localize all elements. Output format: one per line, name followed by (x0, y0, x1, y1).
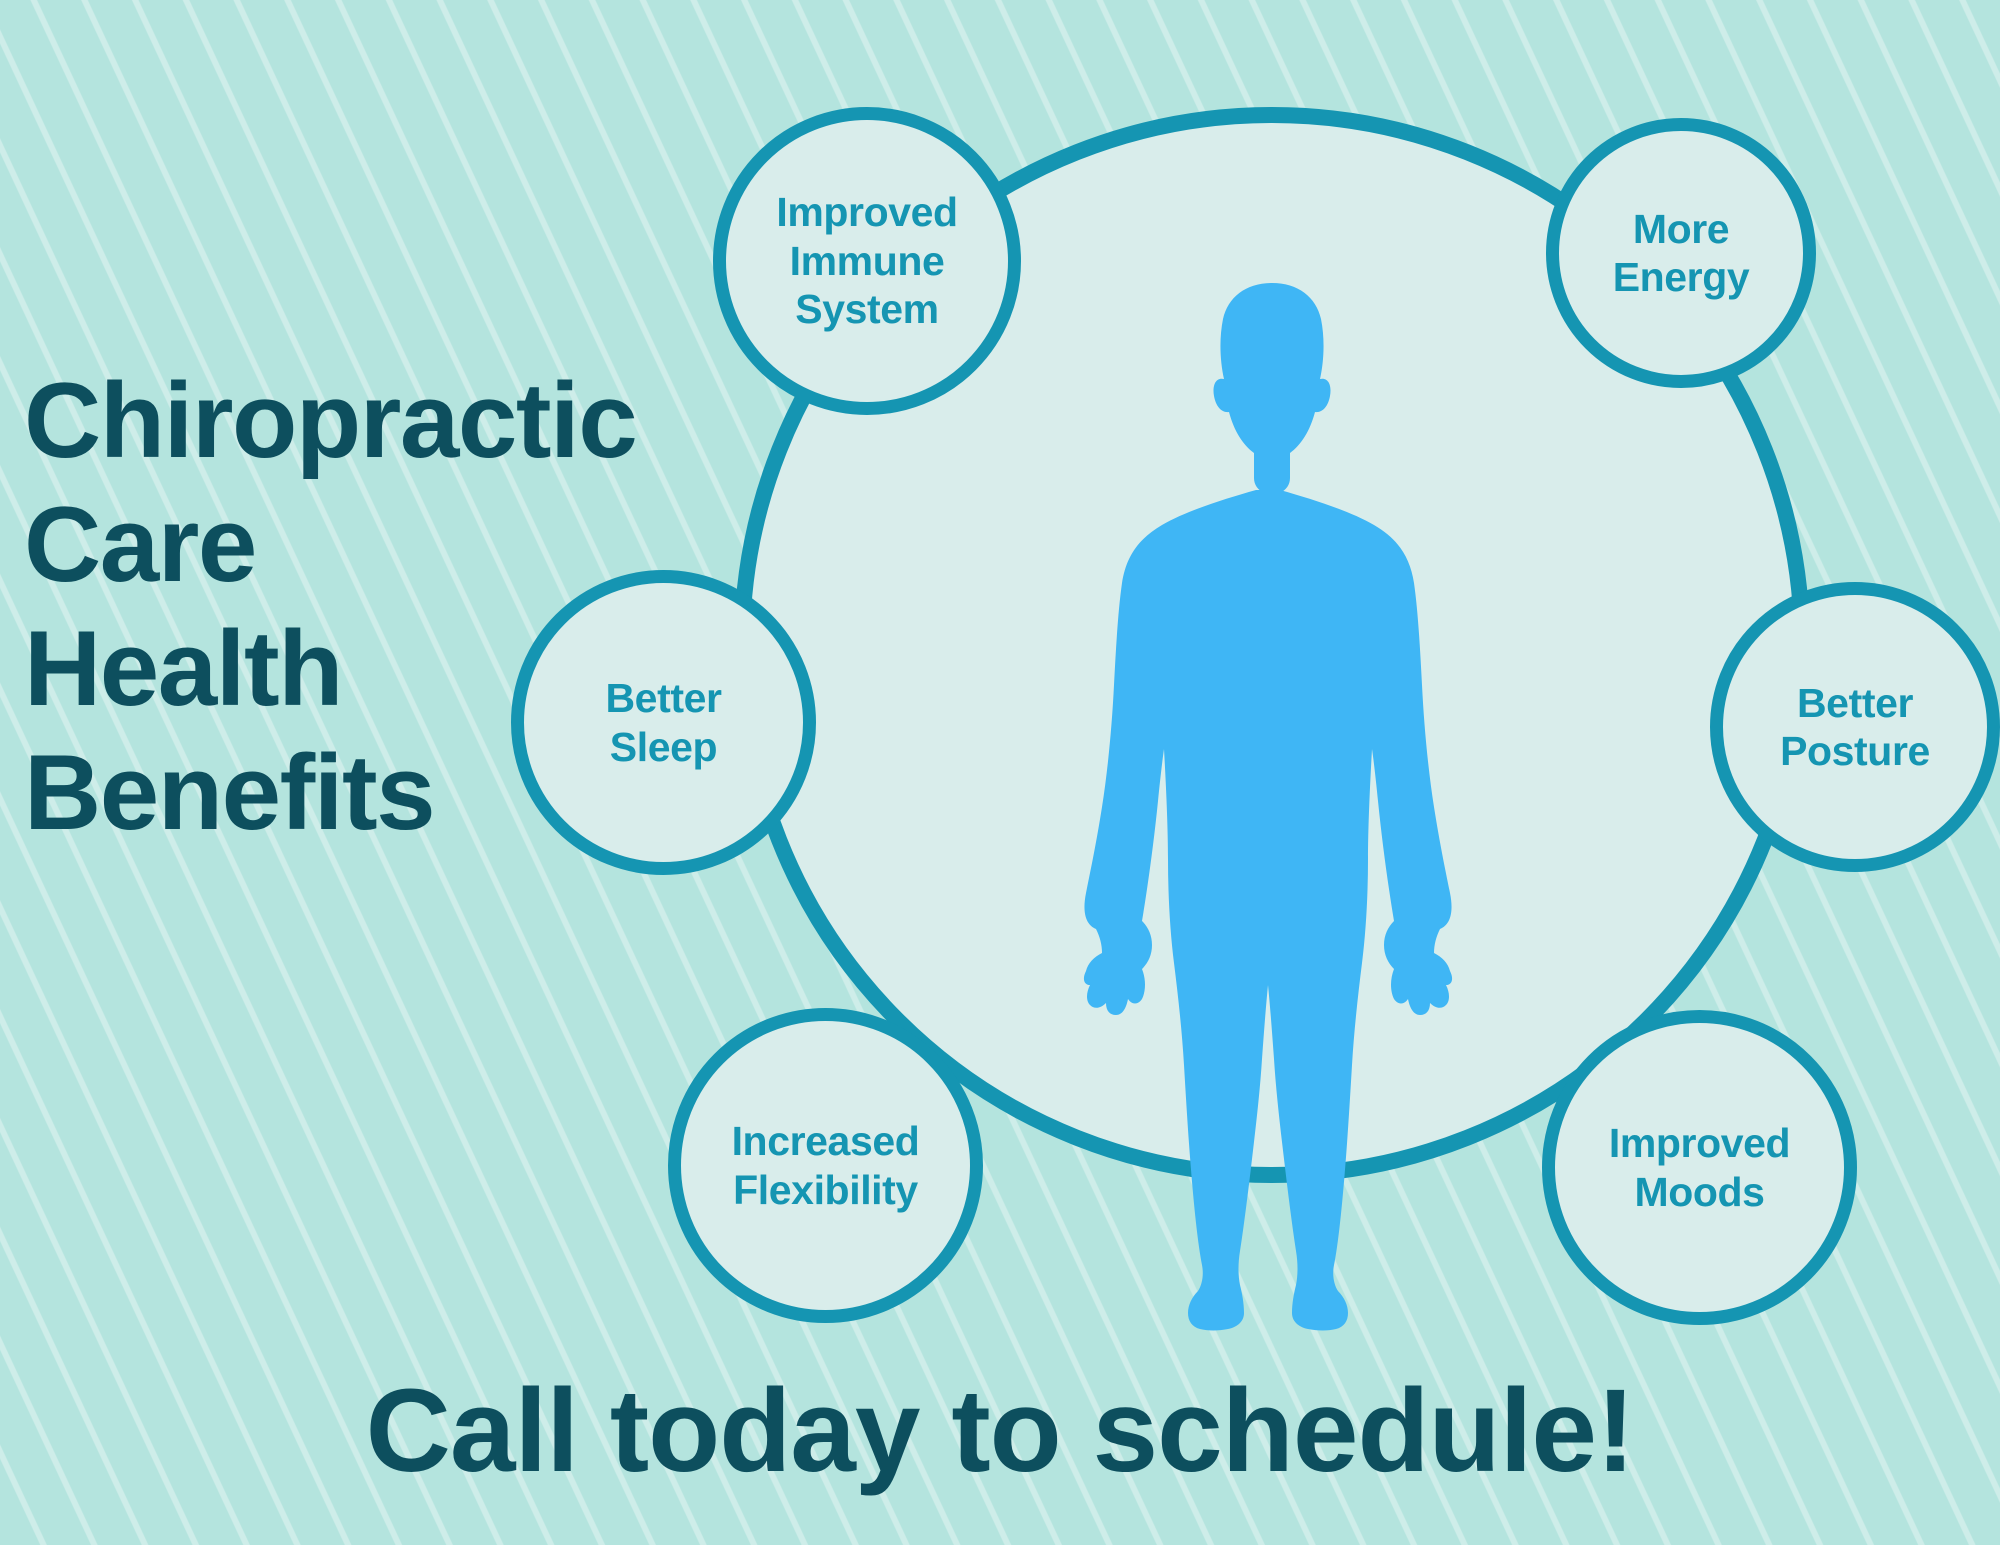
benefit-line-2: Moods (1634, 1169, 1764, 1215)
benefit-line-1: Improved (1609, 1120, 1790, 1166)
benefit-line-2: Energy (1613, 254, 1750, 300)
benefit-line-2: Flexibility (733, 1167, 918, 1213)
headline-line-1: Chiropractic (24, 358, 724, 482)
benefit-line-1: More (1633, 206, 1729, 252)
call-to-action-text: Call today to schedule! (0, 1372, 2000, 1490)
benefit-bubble-improved-immune-system[interactable]: Improved Immune System (713, 107, 1021, 415)
benefit-line-2: Immune (790, 238, 945, 284)
benefit-line-2: Sleep (610, 724, 717, 770)
benefit-bubble-better-sleep[interactable]: Better Sleep (511, 570, 816, 875)
benefit-bubble-increased-flexibility[interactable]: Increased Flexibility (668, 1008, 983, 1323)
benefit-line-3: System (795, 286, 938, 332)
benefit-line-2: Posture (1780, 728, 1930, 774)
benefit-bubble-improved-moods[interactable]: Improved Moods (1542, 1010, 1857, 1325)
benefit-label: Improved Moods (1599, 1119, 1800, 1216)
benefit-label: Increased Flexibility (722, 1117, 930, 1214)
benefit-line-1: Increased (732, 1118, 920, 1164)
benefit-label: Improved Immune System (766, 188, 967, 333)
benefit-line-1: Better (605, 675, 721, 721)
benefit-line-1: Improved (776, 189, 957, 235)
benefit-line-1: Better (1797, 680, 1913, 726)
benefit-label: More Energy (1603, 205, 1760, 302)
benefit-bubble-more-energy[interactable]: More Energy (1546, 118, 1816, 388)
benefit-bubble-better-posture[interactable]: Better Posture (1710, 582, 2000, 872)
poster-canvas: Chiropractic Care Health Benefits Improv… (0, 0, 2000, 1545)
benefit-label: Better Sleep (595, 674, 731, 771)
benefit-label: Better Posture (1770, 679, 1940, 776)
